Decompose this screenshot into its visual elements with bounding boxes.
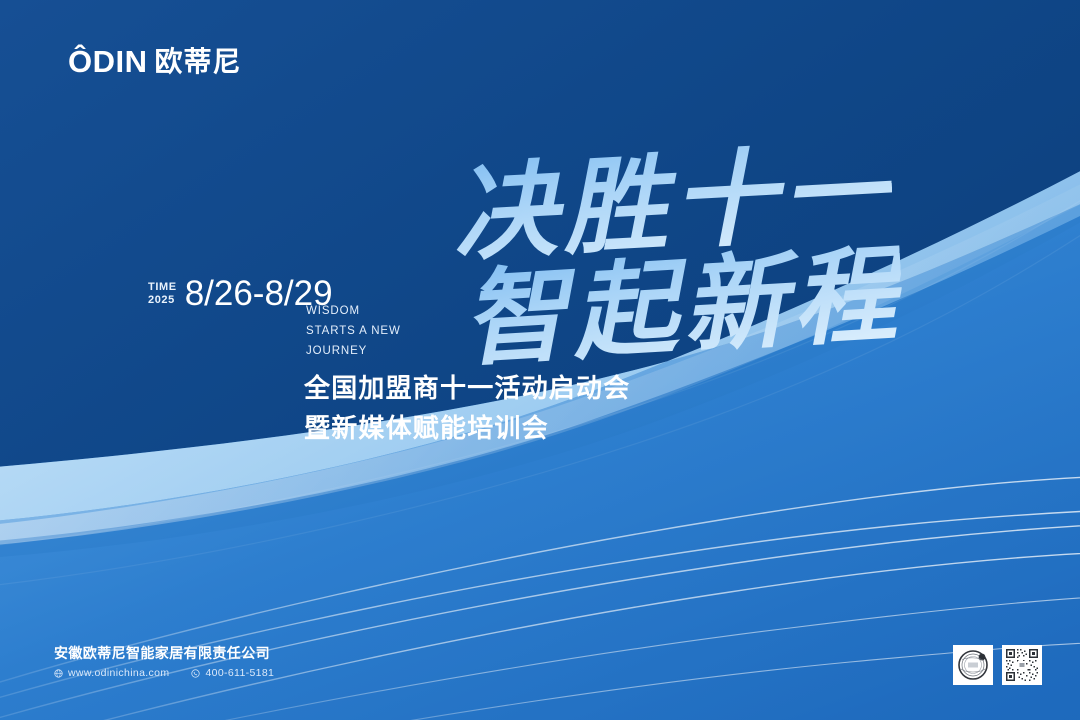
wechat-official-account-seal[interactable] <box>953 645 993 685</box>
tagline-line-3: JOURNEY <box>306 342 401 362</box>
brand-logo: ÔDIN 欧蒂尼 <box>68 46 242 77</box>
qr-code-icon <box>1005 648 1039 682</box>
event-date-block: TIME 2025 8/26-8/29 <box>148 276 333 311</box>
date-label-time: TIME <box>148 281 177 293</box>
website-text: www.odinichina.com <box>68 668 169 679</box>
globe-icon <box>54 669 63 678</box>
subtitle-line-1: 全国加盟商十一活动启动会 <box>304 370 630 410</box>
phone-item: 400-611-5181 <box>191 668 274 679</box>
brand-logo-latin: ÔDIN <box>68 46 148 77</box>
event-subtitle: 全国加盟商十一活动启动会 暨新媒体赋能培训会 <box>304 370 630 449</box>
subtitle-line-2: 暨新媒体赋能培训会 <box>304 410 630 450</box>
headline-line-2: 智起新程 <box>458 209 906 386</box>
english-tagline: WISDOM STARTS A NEW JOURNEY <box>306 302 401 361</box>
date-label: TIME 2025 <box>148 281 177 311</box>
date-label-year: 2025 <box>148 294 177 306</box>
seal-icon <box>956 648 990 682</box>
code-group <box>953 645 1042 685</box>
tagline-line-1: WISDOM <box>306 302 401 322</box>
tagline-line-2: STARTS A NEW <box>306 322 401 342</box>
phone-icon <box>191 669 200 678</box>
company-name: 安徽欧蒂尼智能家居有限责任公司 <box>54 645 274 663</box>
website-item: www.odinichina.com <box>54 668 169 679</box>
poster-canvas: ÔDIN 欧蒂尼 决胜十一 智起新程 TIME 2025 8/26-8/29 W… <box>0 0 1080 720</box>
footer-block: 安徽欧蒂尼智能家居有限责任公司 www.odinichina.com 400-6… <box>54 645 274 679</box>
contact-row: www.odinichina.com 400-611-5181 <box>54 668 274 679</box>
brand-logo-chinese: 欧蒂尼 <box>155 48 242 76</box>
phone-text: 400-611-5181 <box>205 668 274 679</box>
qr-code[interactable] <box>1002 645 1042 685</box>
